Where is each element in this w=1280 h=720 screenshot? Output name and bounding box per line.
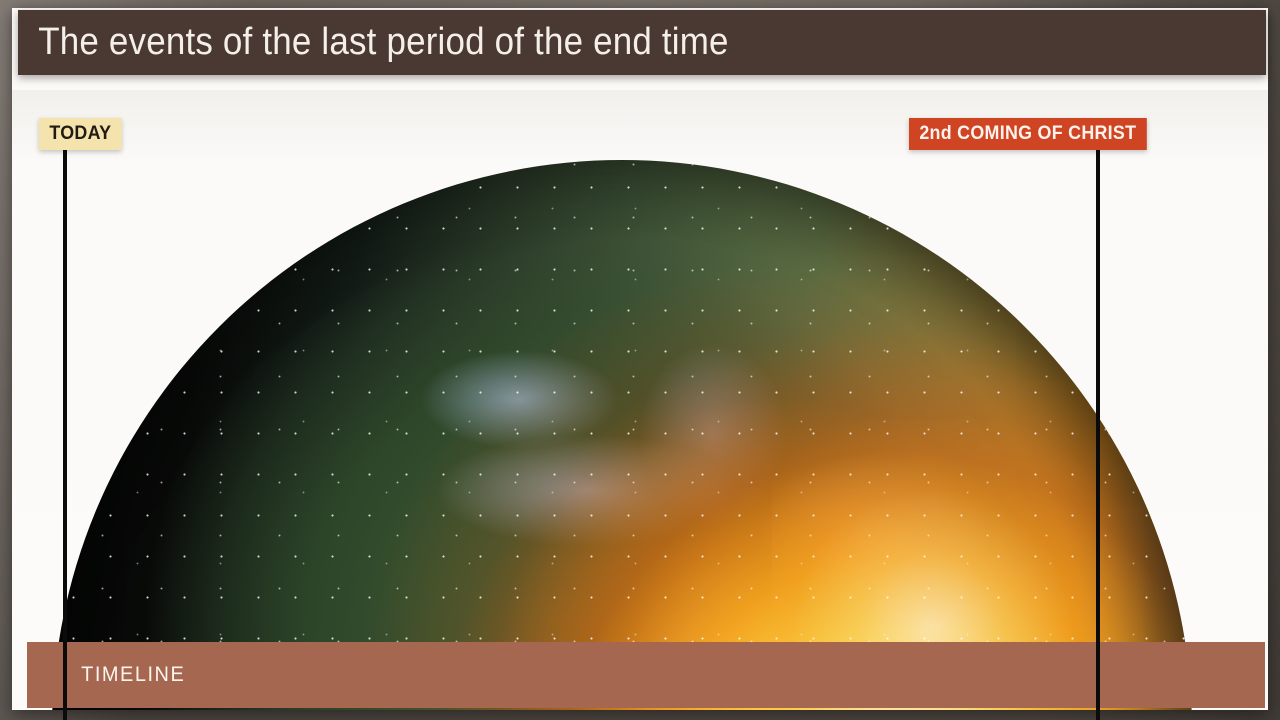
timeline-label-second-coming[interactable]: 2nd COMING OF CHRIST [909, 118, 1147, 150]
earth-globe-icon [52, 160, 1192, 710]
slide-canvas: TODAY 2nd COMING OF CHRIST TIMELINE [12, 8, 1268, 710]
timeline-marker-line-today [63, 148, 67, 720]
presentation-backdrop: TODAY 2nd COMING OF CHRIST TIMELINE The … [0, 0, 1280, 720]
globe-illustration [12, 90, 1268, 710]
timeline-label-today-text: TODAY [49, 123, 111, 145]
timeline-bar-label: TIMELINE [27, 663, 185, 687]
timeline-label-second-coming-text: 2nd COMING OF CHRIST [919, 123, 1136, 145]
slide-title-bar: The events of the last period of the end… [18, 10, 1266, 75]
timeline-label-today[interactable]: TODAY [39, 118, 122, 150]
page-title: The events of the last period of the end… [18, 21, 729, 64]
timeline-bar[interactable]: TIMELINE [27, 642, 1265, 708]
slide-body [12, 90, 1268, 710]
timeline-marker-line-second-coming [1096, 148, 1100, 720]
